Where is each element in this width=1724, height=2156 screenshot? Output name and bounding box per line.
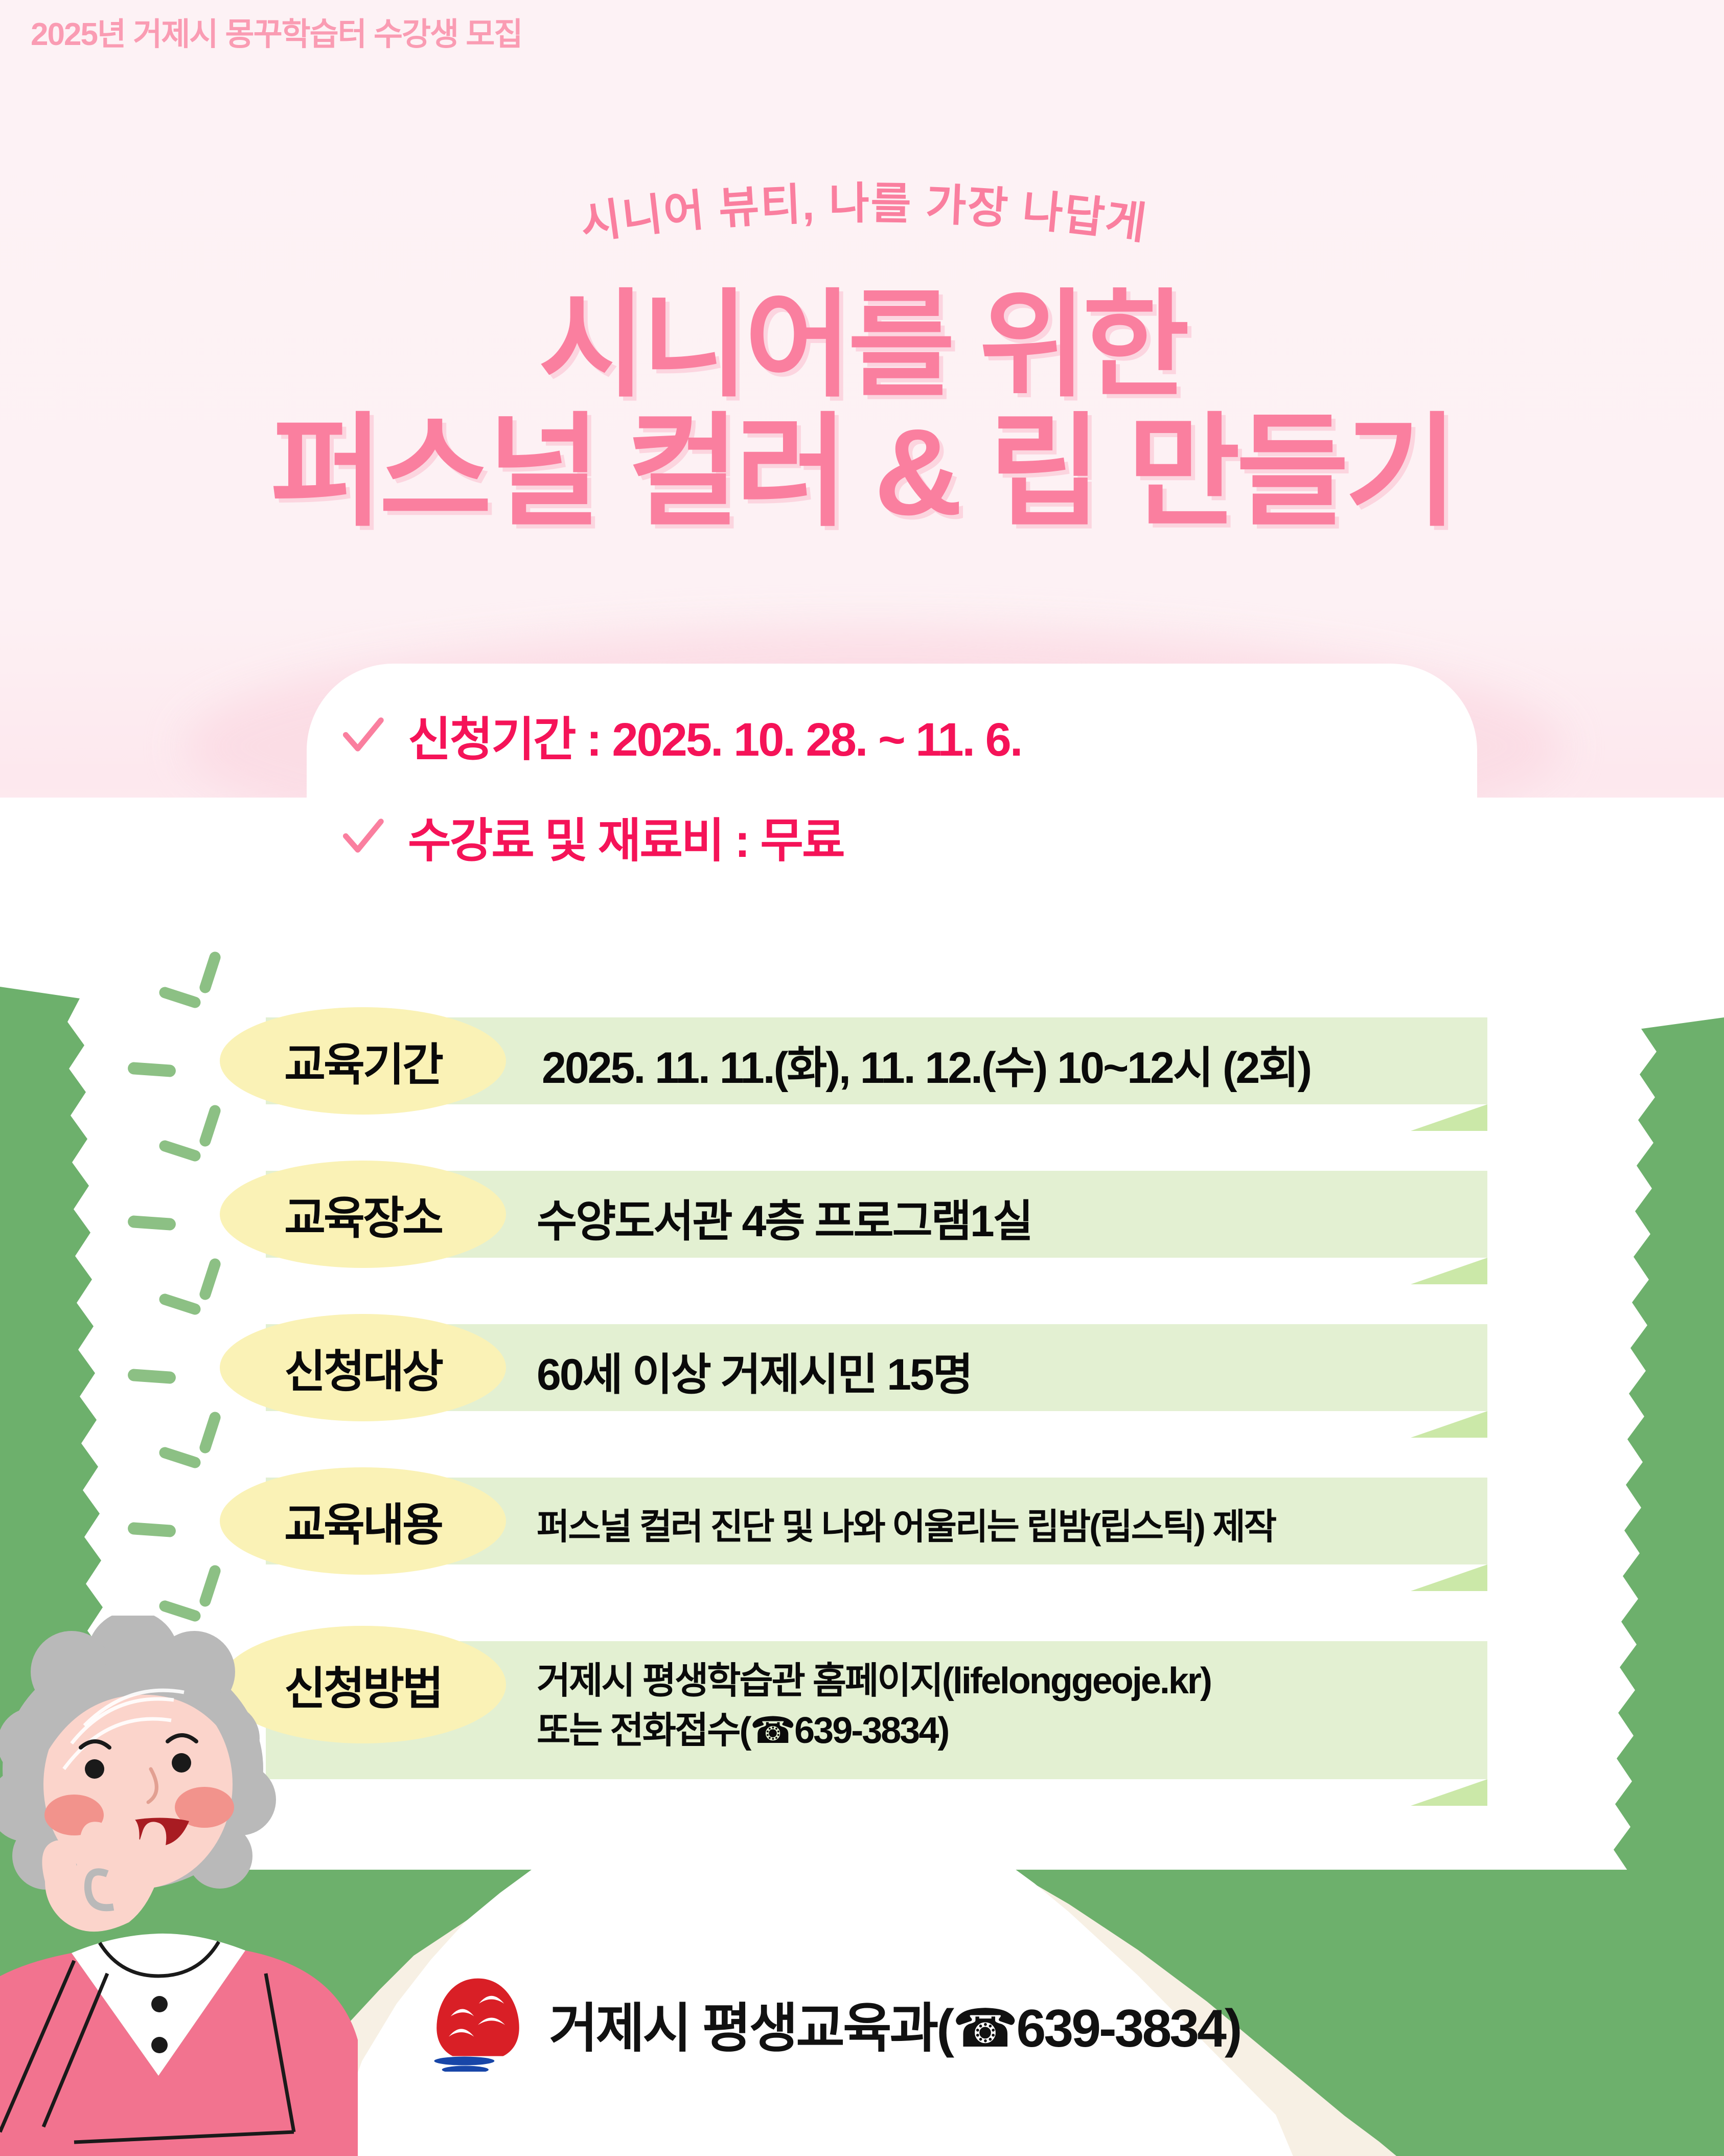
- info-row-label-pill: 교육내용: [220, 1467, 506, 1575]
- info-row-label: 신청대상: [284, 1335, 442, 1400]
- info-row-label-pill: 교육기간: [220, 1007, 506, 1115]
- info-row-value: 2025. 11. 11.(화), 11. 12.(수) 10~12시 (2회): [542, 1032, 1311, 1096]
- eye-left: [85, 1759, 104, 1779]
- info-row-value: 60세 이상 거제시민 15명: [537, 1338, 972, 1402]
- info-row-label: 교육내용: [284, 1489, 442, 1554]
- poster-root: 2025년 거제시 몽꾸학습터 수강생 모집 시니어 뷰티, 나를 가장 나답게…: [0, 0, 1724, 2156]
- button: [151, 1996, 168, 2012]
- info-row-label: 교육장소: [284, 1182, 442, 1247]
- info-row-label-pill: 교육장소: [220, 1161, 506, 1268]
- hero-subtitle-text: 시니어 뷰티, 나를 가장 나답게: [578, 179, 1150, 248]
- hero-title: 시니어를 위한 퍼스널 컬러 & 립 만들기: [0, 286, 1724, 534]
- info-row-value: 수양도서관 4층 프로그램1실: [537, 1185, 1032, 1249]
- apply-item-period-text: 신청기간 : 2025. 10. 28. ~ 11. 6.: [408, 701, 1021, 769]
- hero-title-line1: 시니어를 위한: [0, 286, 1724, 405]
- button: [151, 2037, 168, 2053]
- apply-item-period: 신청기간 : 2025. 10. 28. ~ 11. 6.: [341, 701, 1021, 769]
- arch-svg: 시니어 뷰티, 나를 가장 나답게: [0, 153, 1724, 271]
- footer-department-text: 거제시 평생교육과(☎639-3834): [549, 1985, 1240, 2062]
- info-row-label: 교육기간: [284, 1029, 442, 1094]
- apply-item-fee-text: 수강료 및 재료비 : 무료: [408, 803, 844, 871]
- info-row-value: 퍼스널 컬러 진단 및 나와 어울리는 립밤(립스틱) 제작: [537, 1498, 1275, 1550]
- info-row-value: 거제시 평생학습관 홈페이지(lifelonggeoje.kr) 또는 전화접수…: [537, 1656, 1211, 1756]
- check-icon: [341, 714, 384, 757]
- hero-subtitle-arch: 시니어 뷰티, 나를 가장 나답게: [0, 153, 1724, 271]
- hero-title-line2: 퍼스널 컬러 & 립 만들기: [0, 410, 1724, 535]
- check-icon: [341, 815, 384, 858]
- apply-item-fee: 수강료 및 재료비 : 무료: [341, 803, 844, 871]
- elderly-woman-illustration: [0, 1616, 358, 2156]
- poster-kicker: 2025년 거제시 몽꾸학습터 수강생 모집: [31, 8, 522, 54]
- eye-right: [172, 1753, 191, 1773]
- info-row-label-pill: 신청대상: [220, 1314, 506, 1421]
- geoje-city-logo: [429, 1975, 526, 2072]
- footer: 거제시 평생교육과(☎639-3834): [429, 1975, 1240, 2072]
